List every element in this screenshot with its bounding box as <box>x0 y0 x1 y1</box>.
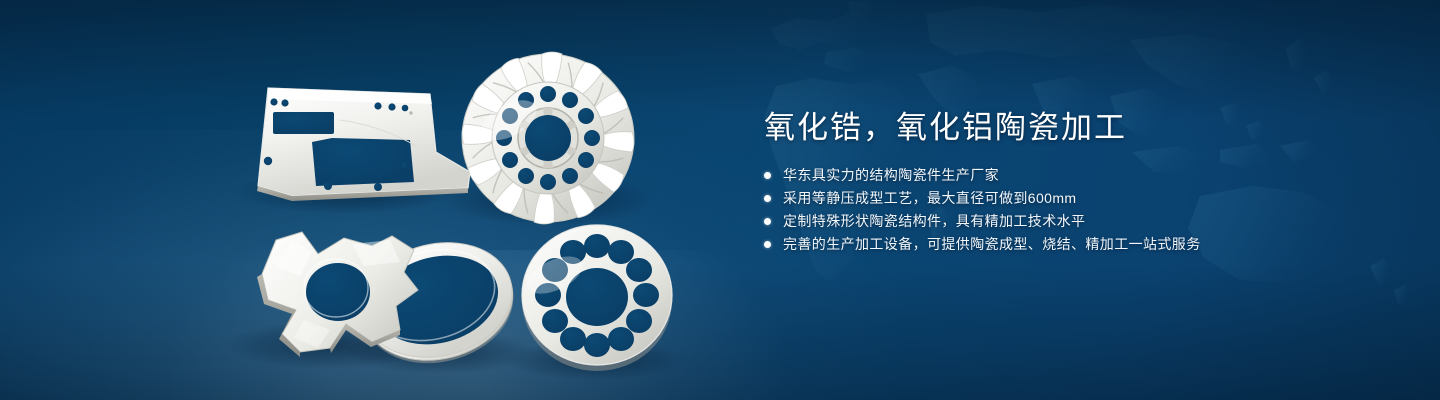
banner-headline: 氧化锆，氧化铝陶瓷加工 <box>764 108 1404 148</box>
list-item-label: 华东具实力的结构陶瓷件生产厂家 <box>783 167 999 184</box>
bullet-dot-icon <box>764 195 771 202</box>
list-item: 完善的生产加工设备，可提供陶瓷成型、烧结、精加工一站式服务 <box>764 236 1404 253</box>
hero-banner: 氧化锆，氧化铝陶瓷加工 华东具实力的结构陶瓷件生产厂家 采用等静压成型工艺，最大… <box>0 0 1440 400</box>
list-item-label: 采用等静压成型工艺，最大直径可做到600mm <box>783 190 1076 207</box>
bullet-dot-icon <box>764 241 771 248</box>
list-item: 华东具实力的结构陶瓷件生产厂家 <box>764 167 1404 184</box>
list-item-label: 完善的生产加工设备，可提供陶瓷成型、烧结、精加工一站式服务 <box>783 236 1201 253</box>
banner-copy: 氧化锆，氧化铝陶瓷加工 华东具实力的结构陶瓷件生产厂家 采用等静压成型工艺，最大… <box>764 108 1404 269</box>
feature-list: 华东具实力的结构陶瓷件生产厂家 采用等静压成型工艺，最大直径可做到600mm 定… <box>764 167 1404 253</box>
bullet-dot-icon <box>764 172 771 179</box>
list-item: 采用等静压成型工艺，最大直径可做到600mm <box>764 190 1404 207</box>
ceramic-impeller-shape <box>462 52 634 224</box>
ceramic-parts-artwork <box>0 0 760 400</box>
list-item-label: 定制特殊形状陶瓷结构件，具有精加工技术水平 <box>783 213 1085 230</box>
list-item: 定制特殊形状陶瓷结构件，具有精加工技术水平 <box>764 213 1404 230</box>
bullet-dot-icon <box>764 218 771 225</box>
ceramic-perforated-disc-shape <box>521 225 672 371</box>
ceramic-plate-shape <box>257 88 470 201</box>
